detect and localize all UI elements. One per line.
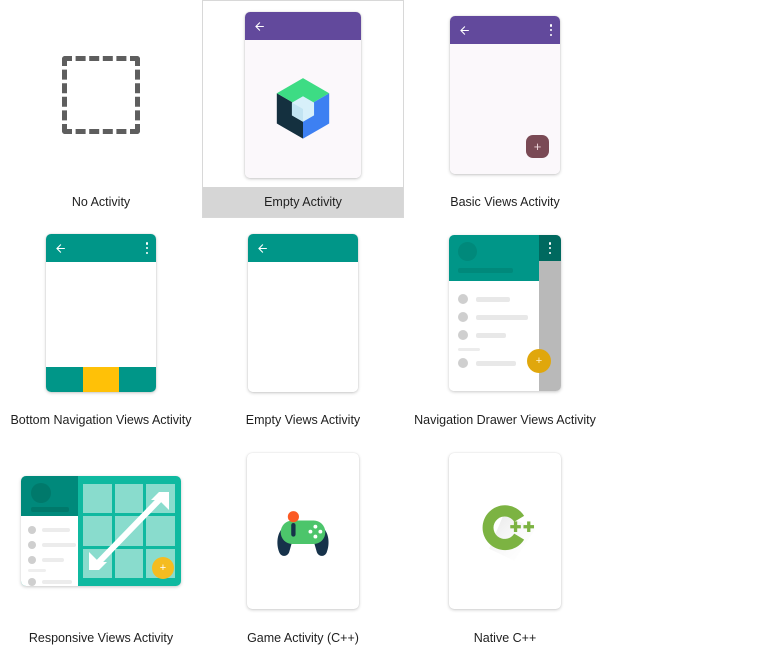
thumbnail-no-activity — [1, 1, 201, 187]
nav-drawer-mock: + — [449, 235, 561, 391]
panel-item — [21, 552, 78, 567]
drawer-header — [449, 235, 539, 281]
template-label: Navigation Drawer Views Activity — [405, 405, 605, 435]
header-text-placeholder — [31, 507, 69, 512]
thumbnail-game-activity — [203, 437, 403, 623]
avatar — [458, 242, 477, 261]
item-text-placeholder — [476, 361, 516, 366]
thumbnail-native-cpp — [405, 437, 605, 623]
phone-mock — [46, 234, 156, 392]
template-cell-empty-activity[interactable]: Empty Activity — [202, 0, 404, 218]
item-icon — [458, 330, 468, 340]
item-text-placeholder — [42, 528, 70, 532]
template-label: Basic Views Activity — [405, 187, 605, 217]
template-label: No Activity — [1, 187, 201, 217]
overflow-menu-icon — [146, 242, 149, 254]
drawer-item-list — [449, 281, 539, 391]
dashed-placeholder-icon — [62, 56, 140, 134]
drawer-item — [449, 290, 539, 308]
bottom-nav-item-active — [83, 367, 120, 392]
item-icon — [28, 526, 36, 534]
panel-item-list — [21, 516, 78, 586]
header-text-placeholder — [458, 268, 513, 273]
overflow-menu-icon — [550, 24, 553, 36]
thumbnail-basic-views-activity: + — [405, 1, 605, 187]
app-bar — [46, 234, 156, 262]
phone-mock: + — [450, 16, 560, 174]
template-grid: No Activity — [0, 0, 784, 651]
cpp-logo-icon — [472, 500, 538, 562]
item-text-placeholder — [42, 558, 64, 562]
bottom-nav-item — [46, 367, 83, 392]
drawer-divider — [458, 348, 480, 351]
phone-content-area — [46, 262, 156, 392]
jetpack-compose-logo-icon — [271, 77, 335, 141]
template-cell-native-cpp[interactable]: Native C++ — [404, 436, 606, 651]
avatar — [31, 483, 51, 503]
back-arrow-icon — [458, 24, 471, 37]
floating-action-button: + — [152, 557, 174, 579]
app-bar — [450, 16, 560, 44]
panel-item — [21, 537, 78, 552]
thumbnail-empty-views-activity — [203, 219, 403, 405]
thumbnail-navigation-drawer-views-activity: + — [405, 219, 605, 405]
gamepad-icon — [272, 503, 334, 559]
card-mock — [449, 453, 561, 609]
template-cell-basic-views-activity[interactable]: + Basic Views Activity — [404, 0, 606, 218]
phone-content-area: + — [450, 44, 560, 174]
template-cell-navigation-drawer-views-activity[interactable]: + Navigation Drawer Views Activity — [404, 218, 606, 436]
thumbnail-bottom-navigation-views-activity — [1, 219, 201, 405]
back-arrow-icon — [256, 242, 269, 255]
thumbnail-empty-activity — [203, 1, 403, 187]
item-text-placeholder — [476, 315, 528, 320]
item-icon — [28, 541, 36, 549]
phone-content-area — [245, 40, 361, 178]
back-arrow-icon — [54, 242, 67, 255]
app-bar — [245, 12, 361, 40]
card-mock — [247, 453, 359, 609]
template-label: Bottom Navigation Views Activity — [1, 405, 201, 435]
template-cell-no-activity[interactable]: No Activity — [0, 0, 202, 218]
drawer-item — [449, 308, 539, 326]
bottom-nav-item — [119, 367, 156, 392]
bottom-navigation-bar — [46, 367, 156, 392]
tablet-mock: + — [21, 476, 181, 586]
phone-content-area — [248, 262, 358, 392]
drawer-item — [449, 354, 539, 372]
floating-action-button: + — [526, 135, 549, 158]
panel-item — [21, 522, 78, 537]
item-text-placeholder — [42, 580, 72, 584]
item-text-placeholder — [476, 297, 510, 302]
template-gallery-panel: No Activity — [0, 0, 784, 651]
template-cell-empty-views-activity[interactable]: Empty Views Activity — [202, 218, 404, 436]
overflow-menu-icon — [549, 242, 552, 254]
template-label: Empty Views Activity — [203, 405, 403, 435]
thumbnail-responsive-views-activity: + — [1, 437, 201, 623]
panel-item — [21, 574, 78, 586]
item-icon — [28, 578, 36, 586]
drawer-item — [449, 326, 539, 344]
floating-action-button: + — [527, 349, 551, 373]
template-cell-game-activity-cpp[interactable]: Game Activity (C++) — [202, 436, 404, 651]
template-label: Native C++ — [405, 623, 605, 651]
item-icon — [28, 556, 36, 564]
app-bar-strip — [539, 235, 561, 261]
template-cell-responsive-views-activity[interactable]: + Responsive Views Activity — [0, 436, 202, 651]
app-bar — [248, 234, 358, 262]
item-text-placeholder — [42, 543, 76, 547]
template-label: Game Activity (C++) — [203, 623, 403, 651]
item-icon — [458, 358, 468, 368]
item-icon — [458, 312, 468, 322]
back-arrow-icon — [253, 20, 266, 33]
phone-mock — [245, 12, 361, 178]
panel-divider — [28, 569, 46, 572]
template-label: Empty Activity — [203, 187, 403, 217]
item-icon — [458, 294, 468, 304]
item-text-placeholder — [476, 333, 506, 338]
template-cell-bottom-navigation-views-activity[interactable]: Bottom Navigation Views Activity — [0, 218, 202, 436]
panel-header — [21, 476, 78, 516]
template-label: Responsive Views Activity — [1, 623, 201, 651]
phone-mock — [248, 234, 358, 392]
